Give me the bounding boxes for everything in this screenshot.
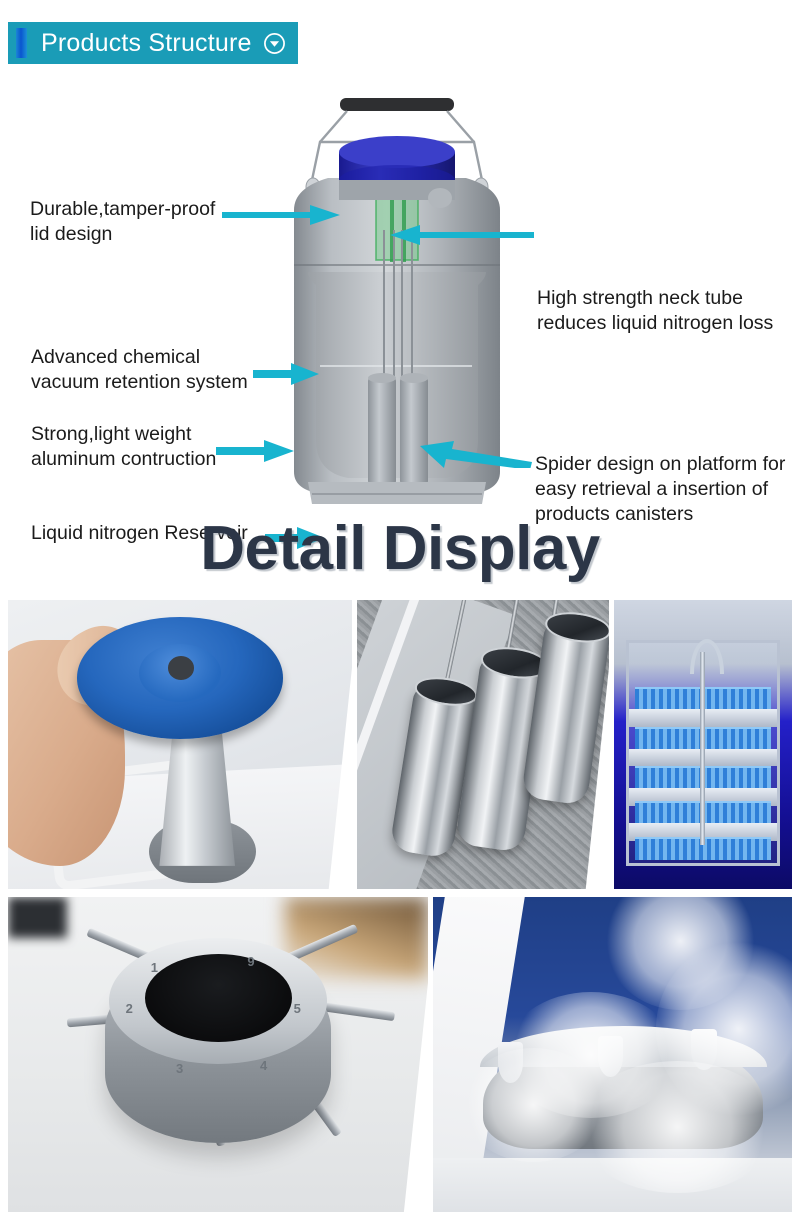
arrow-left-icon-neck-tube bbox=[388, 222, 534, 248]
callout-aluminum-construction: Strong,light weight aluminum contruction bbox=[31, 422, 216, 472]
arrow-right-icon-lid bbox=[222, 202, 342, 228]
arrow-right-icon-vacuum bbox=[253, 361, 321, 387]
banner-accent-bar bbox=[16, 28, 27, 58]
ring-number: 4 bbox=[260, 1058, 267, 1073]
chevron-down-circle-icon[interactable] bbox=[263, 32, 286, 55]
photo-lid-in-hand[interactable] bbox=[8, 600, 352, 889]
tank-handle bbox=[340, 98, 454, 111]
photo-nitrogen-vapor[interactable] bbox=[433, 897, 792, 1212]
ring-number: 1 bbox=[151, 960, 158, 975]
arrow-left-icon-spider bbox=[418, 438, 534, 468]
banner-title: Products Structure bbox=[41, 29, 252, 58]
photo-row-bottom: 1 2 3 4 5 9 bbox=[0, 897, 800, 1212]
detail-photo-grid: 1 2 3 4 5 9 bbox=[0, 600, 800, 1212]
photo-cryo-rack[interactable] bbox=[614, 600, 792, 889]
ring-number: 9 bbox=[247, 954, 254, 969]
callout-neck-tube: High strength neck tube reduces liquid n… bbox=[537, 286, 773, 336]
product-structure-diagram: Durable,tamper-proof lid design High str… bbox=[0, 70, 800, 510]
arrow-right-icon-aluminum bbox=[216, 438, 296, 464]
photo-spider-neck-ring[interactable]: 1 2 3 4 5 9 bbox=[8, 897, 428, 1212]
callout-vacuum-system: Advanced chemical vacuum retention syste… bbox=[31, 345, 248, 395]
detail-display-title: Detail Display bbox=[0, 513, 800, 584]
ring-number: 5 bbox=[294, 1001, 301, 1016]
photo-row-top bbox=[0, 600, 800, 889]
ring-number: 2 bbox=[126, 1001, 133, 1016]
ring-number: 3 bbox=[176, 1061, 183, 1076]
products-structure-banner[interactable]: Products Structure bbox=[8, 22, 298, 64]
photo-steel-canisters[interactable] bbox=[357, 600, 609, 889]
callout-lid-design: Durable,tamper-proof lid design bbox=[30, 197, 215, 247]
